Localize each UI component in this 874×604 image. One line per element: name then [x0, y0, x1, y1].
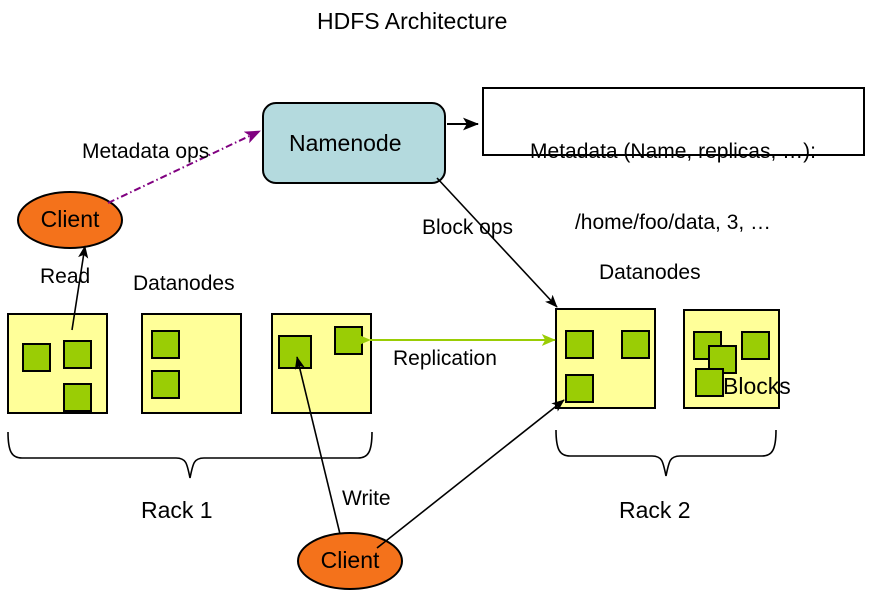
block	[152, 331, 179, 358]
datanode-rack1-2[interactable]	[142, 314, 241, 413]
block	[742, 332, 769, 359]
block	[279, 336, 311, 368]
block	[566, 375, 593, 402]
datanode-rack1-3[interactable]	[272, 314, 371, 413]
rack1-label: Rack 1	[141, 498, 213, 524]
metadata-line-2: /home/foo/data, 3, …	[484, 211, 862, 235]
write-label: Write	[342, 487, 391, 511]
block	[696, 369, 723, 396]
rack2-label: Rack 2	[619, 498, 691, 524]
rack2-brace	[556, 430, 776, 476]
datanodes-left-label: Datanodes	[133, 272, 235, 296]
datanode-rack1-1[interactable]	[8, 314, 107, 413]
hdfs-architecture-diagram: HDFS Architecture	[0, 0, 874, 604]
namenode-label: Namenode	[289, 131, 402, 157]
block	[566, 331, 593, 358]
block	[152, 371, 179, 398]
block	[64, 341, 91, 368]
block	[335, 327, 362, 354]
block	[622, 331, 649, 358]
replication-label: Replication	[393, 347, 497, 371]
read-label: Read	[40, 265, 90, 289]
client-top-label: Client	[18, 207, 122, 233]
datanode-rack2-1[interactable]	[556, 309, 655, 408]
blocks-label: Blocks	[723, 374, 791, 400]
metadata-box-text: Metadata (Name, replicas, …): /home/foo/…	[484, 93, 862, 281]
block	[23, 344, 50, 371]
client-bottom-label: Client	[298, 548, 402, 574]
block	[64, 384, 91, 411]
datanodes-right-label: Datanodes	[599, 261, 701, 285]
write-arrow-remote	[377, 400, 564, 548]
block-ops-label: Block ops	[422, 216, 513, 240]
diagram-canvas	[0, 0, 874, 604]
metadata-ops-label: Metadata ops	[82, 140, 209, 164]
metadata-line-1: Metadata (Name, replicas, …):	[484, 140, 862, 164]
